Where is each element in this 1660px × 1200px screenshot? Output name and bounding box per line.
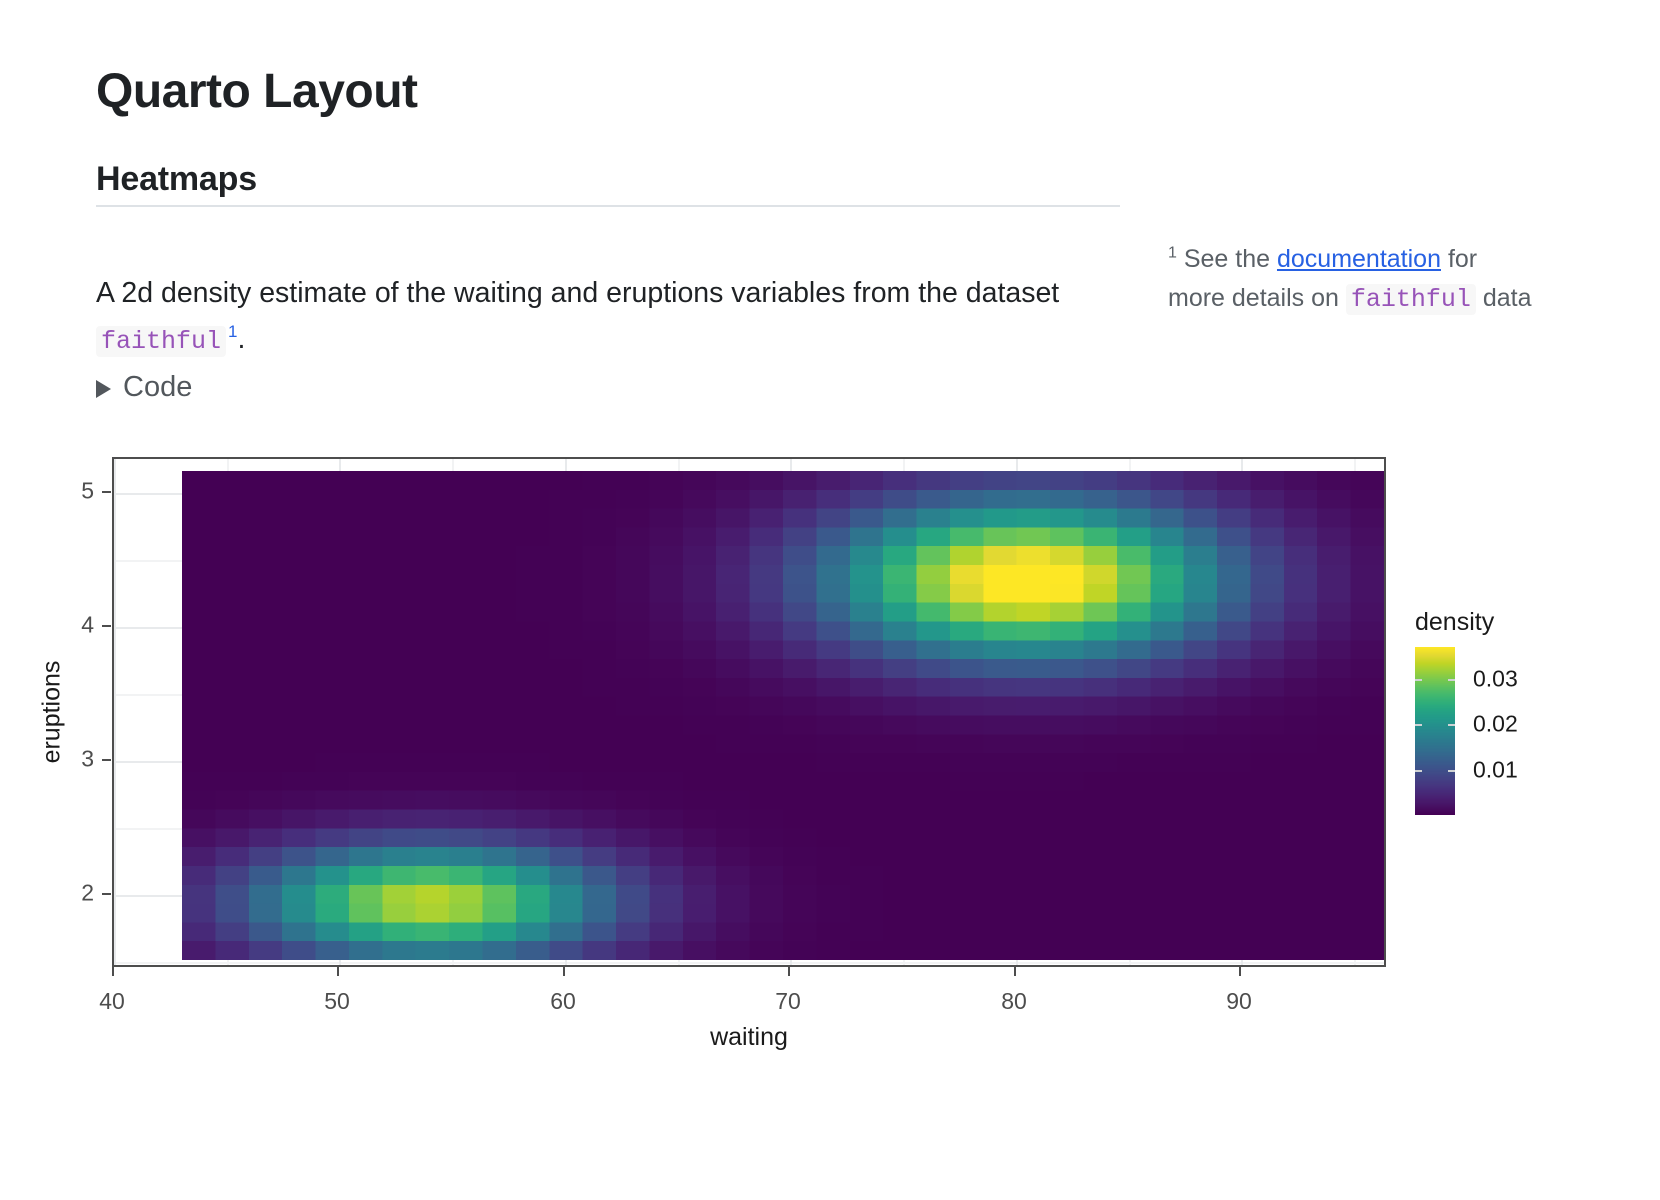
- margin-note-text-tail: data: [1476, 284, 1532, 312]
- legend: density 0.010.020.03: [1415, 608, 1615, 815]
- x-axis-label: waiting: [710, 1023, 788, 1052]
- section-heading: Heatmaps: [96, 159, 257, 200]
- x-tick-mark: [788, 967, 790, 976]
- legend-title: density: [1415, 608, 1615, 637]
- body-text-tail: .: [238, 323, 246, 355]
- margin-note: 1 See the documentation for more details…: [1168, 240, 1538, 319]
- triangle-right-icon: [96, 380, 111, 398]
- body-text-lead: A 2d density estimate of the waiting and…: [96, 277, 1059, 309]
- legend-tick-mark: [1415, 770, 1422, 772]
- code-disclosure-toggle[interactable]: Code: [96, 371, 192, 404]
- y-tick-label: 3: [54, 746, 94, 773]
- x-tick-label: 60: [550, 988, 576, 1015]
- y-tick-mark: [102, 759, 111, 761]
- margin-note-marker: 1: [1168, 245, 1177, 262]
- body-paragraph: A 2d density estimate of the waiting and…: [96, 270, 1106, 363]
- legend-tick-mark: [1448, 724, 1455, 726]
- page-root: Quarto Layout Heatmaps A 2d density esti…: [0, 0, 1660, 1200]
- documentation-link[interactable]: documentation: [1277, 245, 1441, 273]
- gridline-vertical: [114, 459, 116, 965]
- legend-colorbar: 0.010.020.03: [1415, 647, 1455, 815]
- legend-tick-mark: [1415, 679, 1422, 681]
- heatmap-canvas: [182, 471, 1384, 960]
- margin-note-text-lead: See the: [1177, 245, 1277, 273]
- legend-tick-label: 0.02: [1473, 711, 1518, 738]
- legend-tick-label: 0.03: [1473, 666, 1518, 693]
- page-title: Quarto Layout: [96, 64, 418, 119]
- inline-code-faithful: faithful: [96, 326, 226, 357]
- x-tick-mark: [1239, 967, 1241, 976]
- density-heatmap-figure: eruptions waiting density 0.010.020.03 2…: [0, 440, 1660, 1060]
- code-disclosure-label: Code: [123, 371, 192, 404]
- y-tick-mark: [102, 893, 111, 895]
- x-tick-label: 80: [1001, 988, 1027, 1015]
- x-tick-label: 40: [99, 988, 125, 1015]
- gridline-horizontal: [114, 962, 1384, 964]
- x-tick-mark: [1014, 967, 1016, 976]
- legend-tick-mark: [1448, 770, 1455, 772]
- margin-inline-code-faithful: faithful: [1346, 284, 1476, 315]
- x-tick-mark: [337, 967, 339, 976]
- legend-tick-mark: [1415, 724, 1422, 726]
- y-tick-label: 5: [54, 478, 94, 505]
- x-tick-label: 70: [775, 988, 801, 1015]
- y-tick-mark: [102, 491, 111, 493]
- plot-panel: [112, 457, 1386, 967]
- footnote-ref[interactable]: 1: [228, 322, 237, 341]
- legend-colorbar-canvas: [1415, 647, 1455, 815]
- y-tick-label: 4: [54, 612, 94, 639]
- legend-tick-label: 0.01: [1473, 757, 1518, 784]
- y-tick-label: 2: [54, 880, 94, 907]
- legend-tick-mark: [1448, 679, 1455, 681]
- section-divider: [96, 205, 1120, 207]
- x-tick-mark: [563, 967, 565, 976]
- y-tick-mark: [102, 625, 111, 627]
- x-tick-label: 90: [1226, 988, 1252, 1015]
- x-tick-mark: [112, 967, 114, 976]
- x-tick-label: 50: [324, 988, 350, 1015]
